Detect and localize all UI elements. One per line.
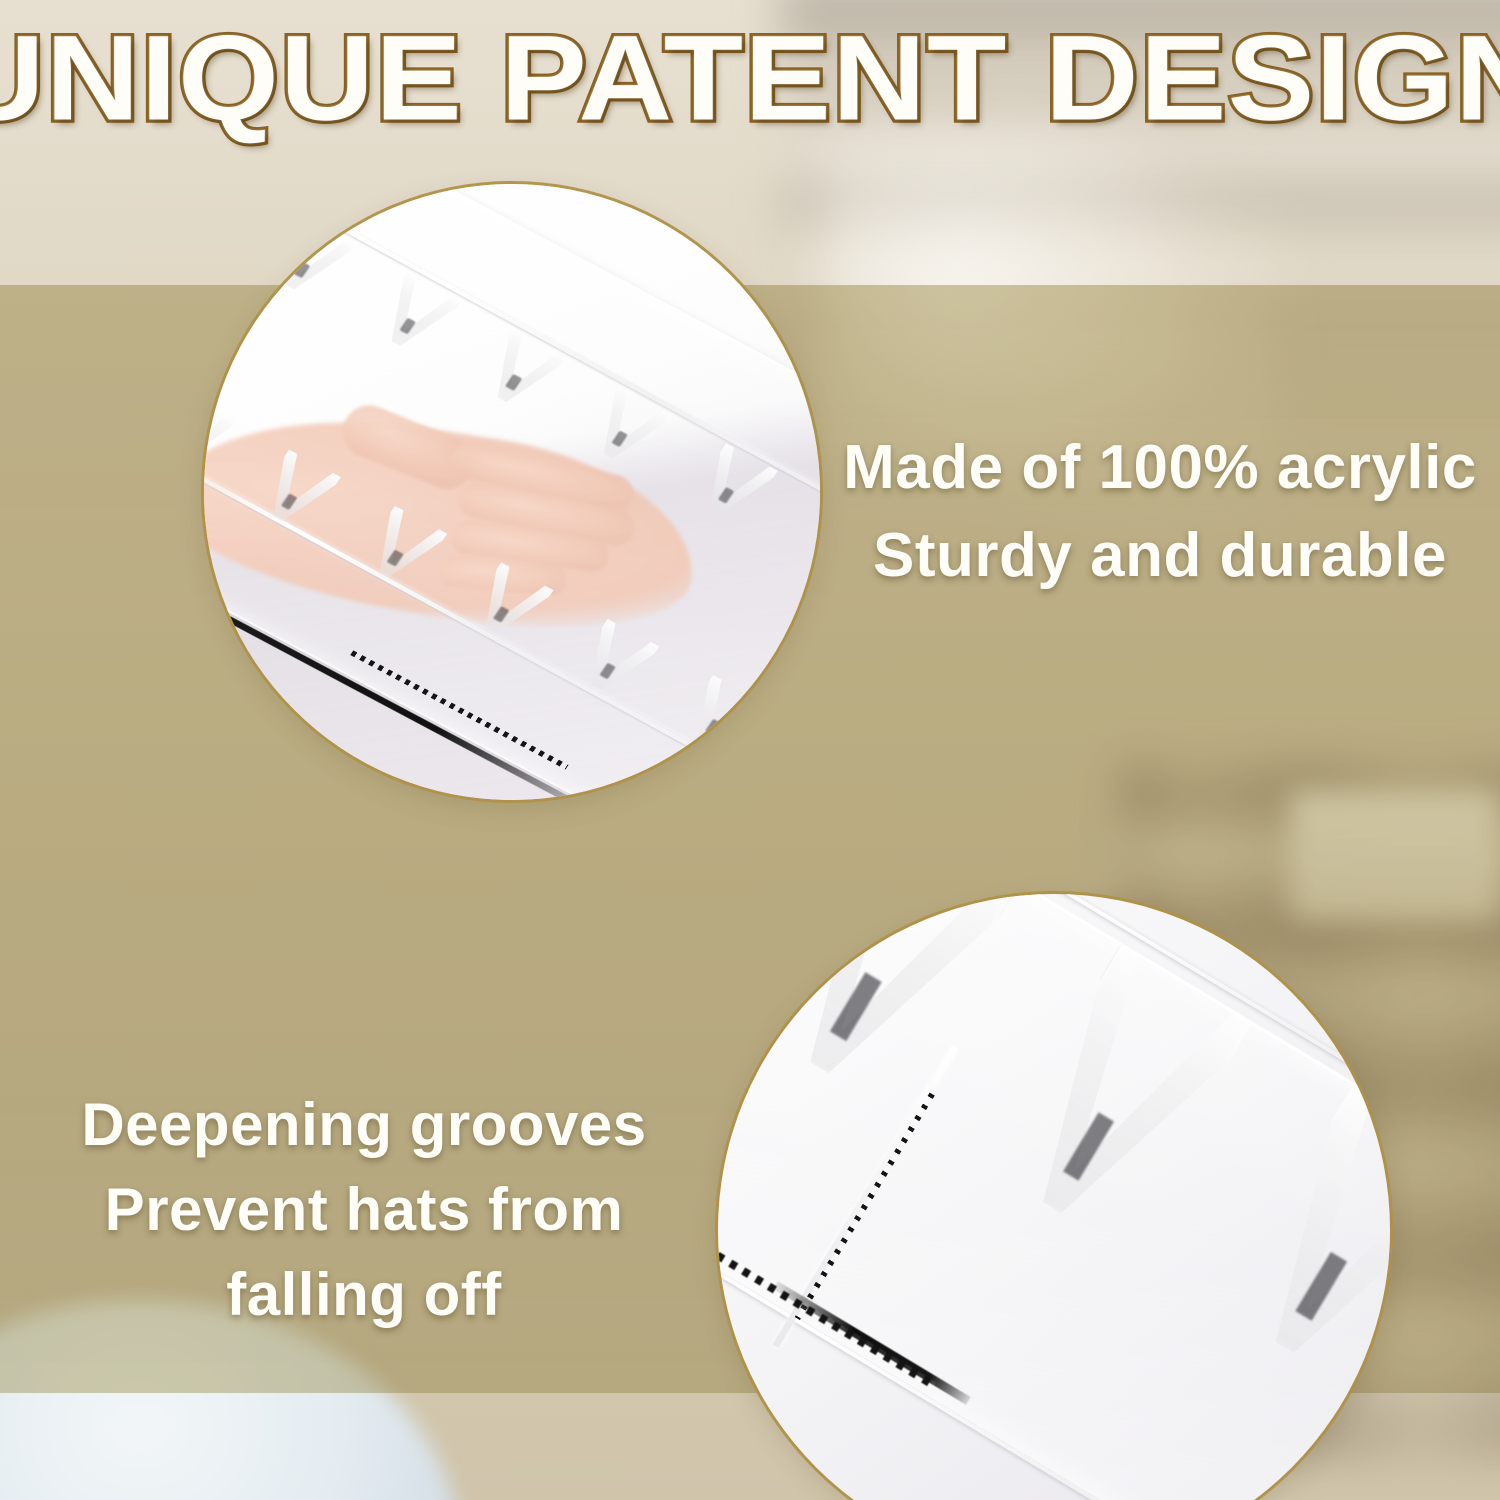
callout-acrylic: Made of 100% acrylic Sturdy and durable [830, 424, 1490, 600]
marketing-image: UNIQUE PATENT DESIGN [0, 0, 1500, 1500]
callout-line: Made of 100% acrylic [830, 424, 1490, 512]
callout-line: Prevent hats from [34, 1167, 694, 1252]
acrylic-groove-closeup [718, 894, 1390, 1500]
photo-hand-behind-acrylic-rack [204, 184, 820, 800]
callout-line: Sturdy and durable [830, 512, 1490, 600]
page-title: UNIQUE PATENT DESIGN [0, 18, 1500, 130]
page-title-text: UNIQUE PATENT DESIGN [0, 18, 1500, 139]
photo-groove-closeup [718, 894, 1390, 1500]
callout-line: Deepening grooves [34, 1082, 694, 1167]
callout-line: falling off [34, 1252, 694, 1337]
callout-grooves: Deepening grooves Prevent hats from fall… [34, 1082, 694, 1338]
